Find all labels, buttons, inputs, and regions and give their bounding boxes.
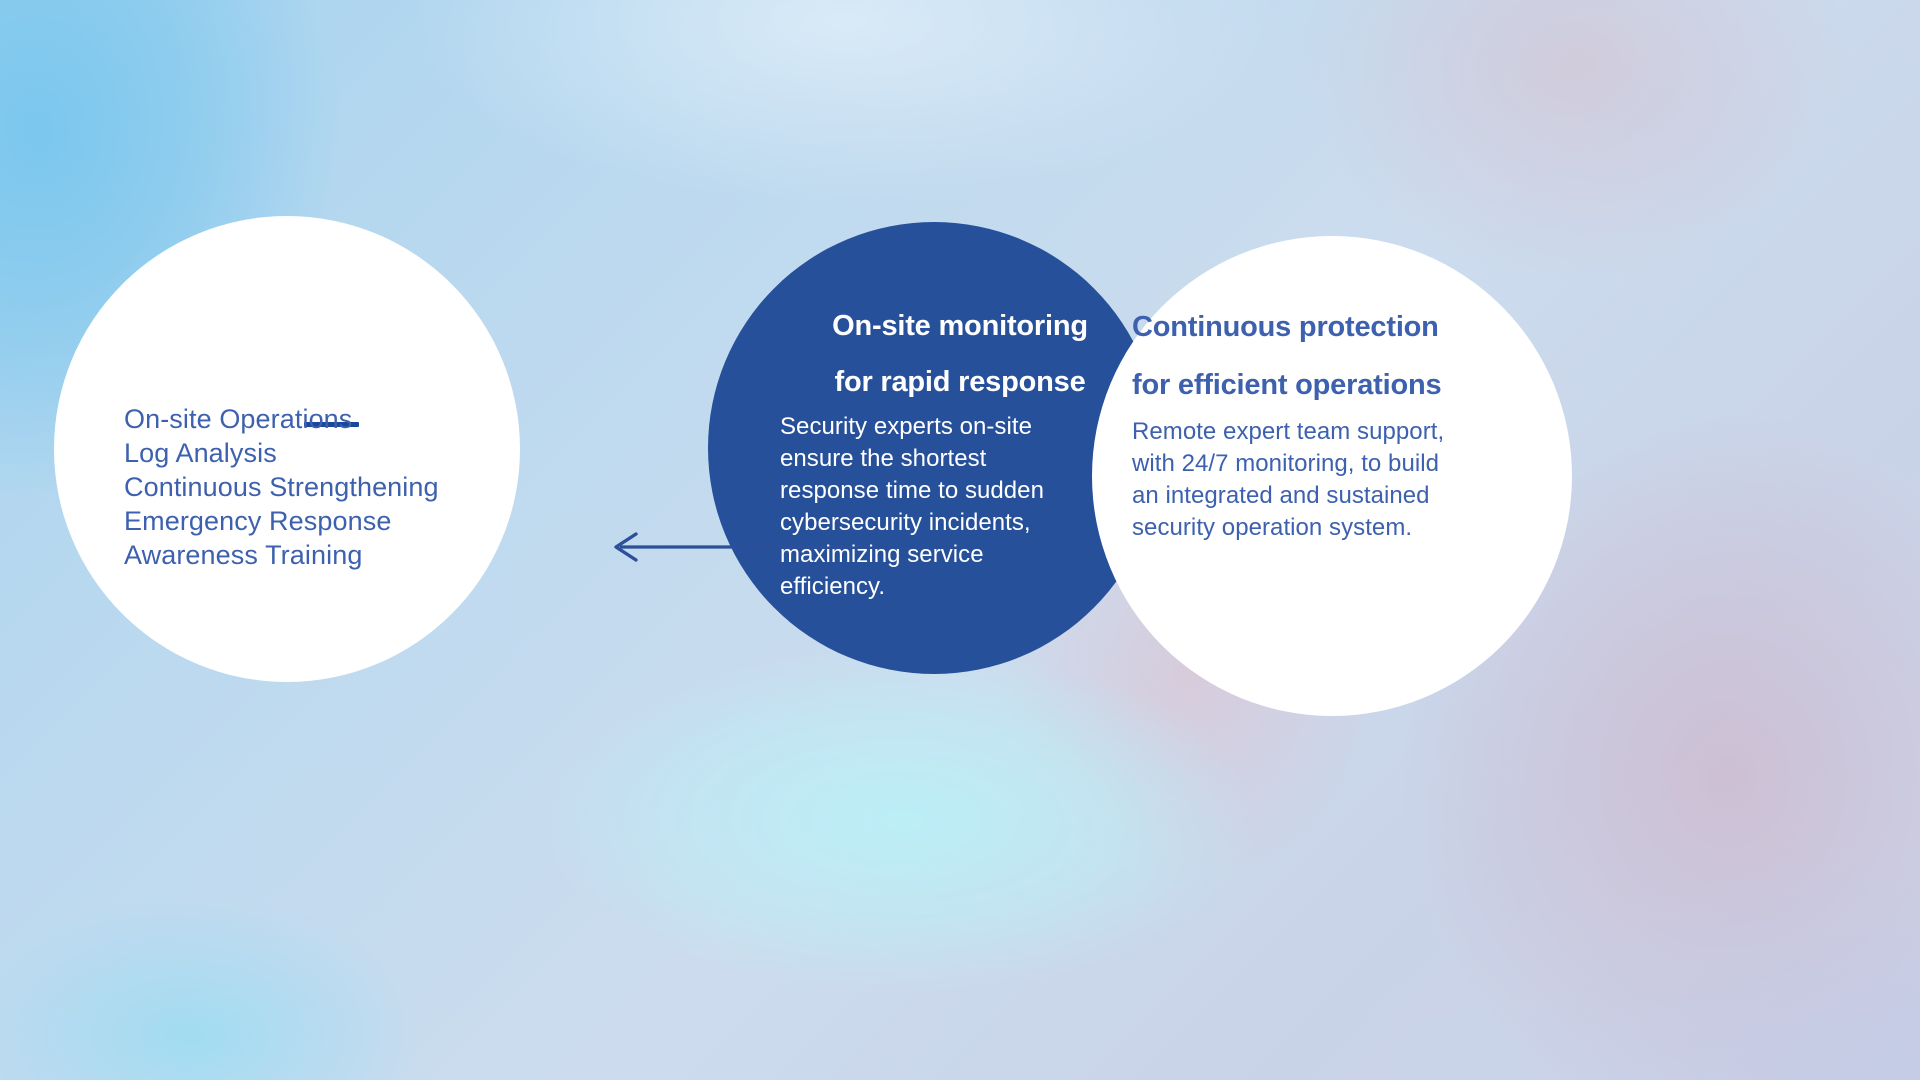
- center-heading: On-site monitoring for rapid response: [780, 298, 1140, 410]
- right-heading-line: for efficient operations: [1132, 356, 1532, 414]
- center-body-text: Security experts on-site ensure the shor…: [780, 411, 1080, 603]
- list-item: Emergency Response: [124, 504, 524, 538]
- right-heading-line: Continuous protection: [1132, 298, 1532, 356]
- center-body-line: efficiency.: [780, 571, 1080, 603]
- right-body-line: Remote expert team support,: [1132, 416, 1512, 448]
- center-heading-line: On-site monitoring: [780, 298, 1140, 354]
- center-heading-line: for rapid response: [780, 354, 1140, 410]
- right-body-line: an integrated and sustained: [1132, 480, 1512, 512]
- right-body-line: security operation system.: [1132, 512, 1512, 544]
- right-circle-content: Continuous protection for efficient oper…: [1092, 236, 1572, 716]
- list-item: Log Analysis: [124, 436, 524, 470]
- center-body-line: response time to sudden: [780, 475, 1080, 507]
- center-body-line: maximizing service: [780, 539, 1080, 571]
- capability-list: On-site Operations Log Analysis Continuo…: [124, 402, 524, 572]
- right-body-line: with 24/7 monitoring, to build: [1132, 448, 1512, 480]
- center-body-line: Security experts on-site: [780, 411, 1080, 443]
- list-item: Awareness Training: [124, 538, 524, 572]
- right-body-text: Remote expert team support, with 24/7 mo…: [1132, 416, 1512, 544]
- left-circle-content: On-site Operations Log Analysis Continuo…: [54, 216, 520, 682]
- diagram-canvas: On-site Operations Log Analysis Continuo…: [0, 0, 1920, 1080]
- right-heading: Continuous protection for efficient oper…: [1132, 298, 1532, 414]
- list-item: On-site Operations: [124, 402, 524, 436]
- center-body-line: cybersecurity incidents,: [780, 507, 1080, 539]
- center-body-line: ensure the shortest: [780, 443, 1080, 475]
- list-item: Continuous Strengthening: [124, 470, 524, 504]
